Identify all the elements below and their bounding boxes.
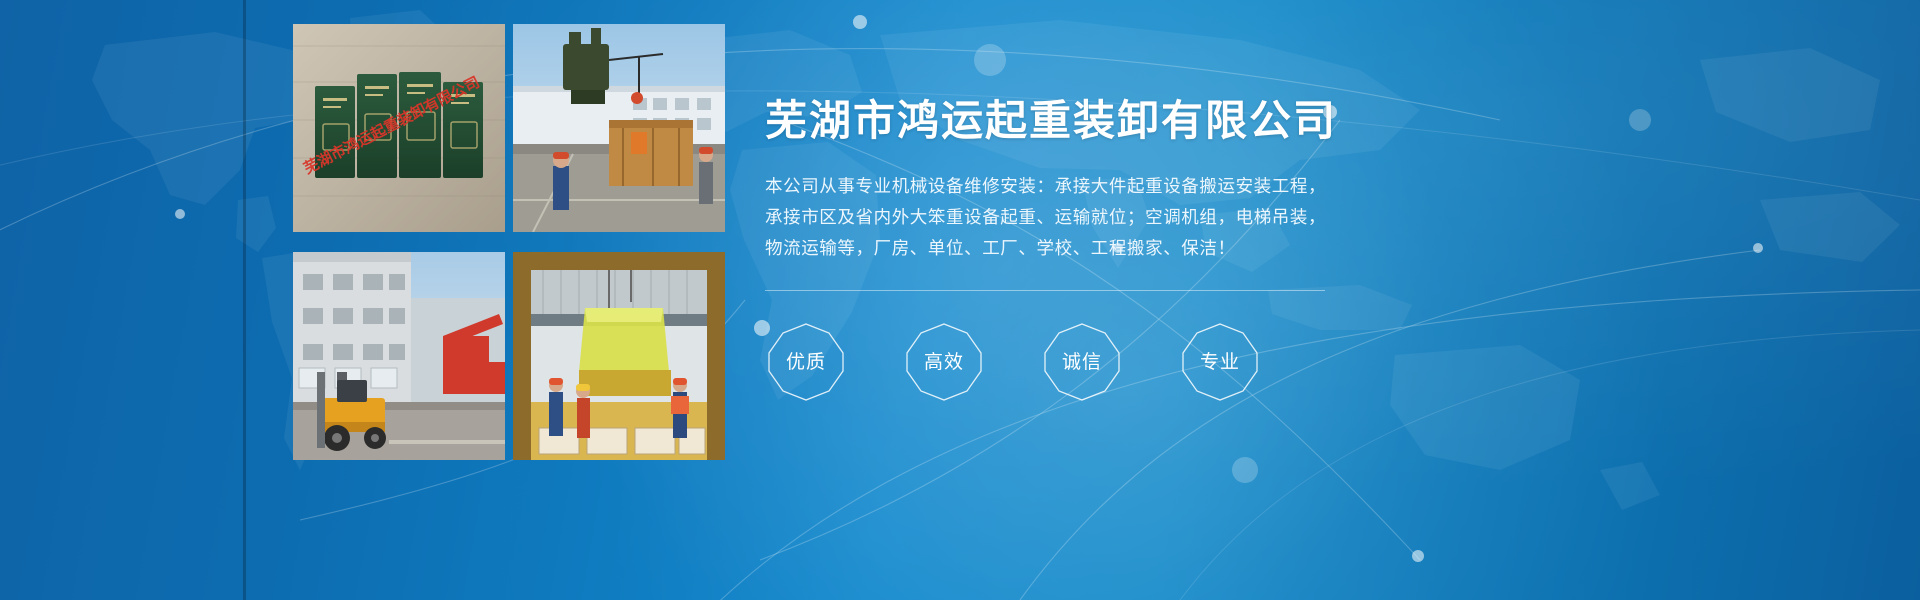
company-description: 本公司从事专业机械设备维修安装：承接大件起重设备搬运安装工程， 承接市区及省内外…	[765, 171, 1845, 264]
badge-quality[interactable]: 优质	[765, 321, 847, 403]
company-banner: 芜湖市鸿运起重装卸有限公司	[0, 0, 1920, 600]
badge-label: 专业	[1200, 353, 1240, 372]
badge-integrity[interactable]: 诚信	[1041, 321, 1123, 403]
photo-forklift-yard[interactable]	[293, 252, 505, 460]
badge-label: 优质	[786, 353, 826, 372]
description-line-3: 物流运输等，厂房、单位、工厂、学校、工程搬家、保洁！	[765, 233, 1845, 264]
badge-label: 高效	[924, 353, 964, 372]
description-line-1: 本公司从事专业机械设备维修安装：承接大件起重设备搬运安装工程，	[765, 171, 1845, 202]
photo-certificates[interactable]: 芜湖市鸿运起重装卸有限公司	[293, 24, 505, 232]
description-line-2: 承接市区及省内外大笨重设备起重、运输就位；空调机组，电梯吊装，	[765, 202, 1845, 233]
banner-content: 芜湖市鸿运起重装卸有限公司 本公司从事专业机械设备维修安装：承接大件起重设备搬运…	[765, 95, 1845, 403]
photo-indoor-hoisting[interactable]	[513, 252, 725, 460]
photo-crane-lifting[interactable]	[513, 24, 725, 232]
photo-grid: 芜湖市鸿运起重装卸有限公司	[293, 24, 738, 462]
feature-badges: 优质 高效 诚信 专业	[765, 321, 1845, 403]
company-title: 芜湖市鸿运起重装卸有限公司	[765, 95, 1845, 147]
badge-label: 诚信	[1062, 353, 1102, 372]
badge-efficiency[interactable]: 高效	[903, 321, 985, 403]
content-divider	[765, 290, 1325, 291]
badge-professional[interactable]: 专业	[1179, 321, 1261, 403]
left-vertical-divider	[243, 0, 246, 600]
